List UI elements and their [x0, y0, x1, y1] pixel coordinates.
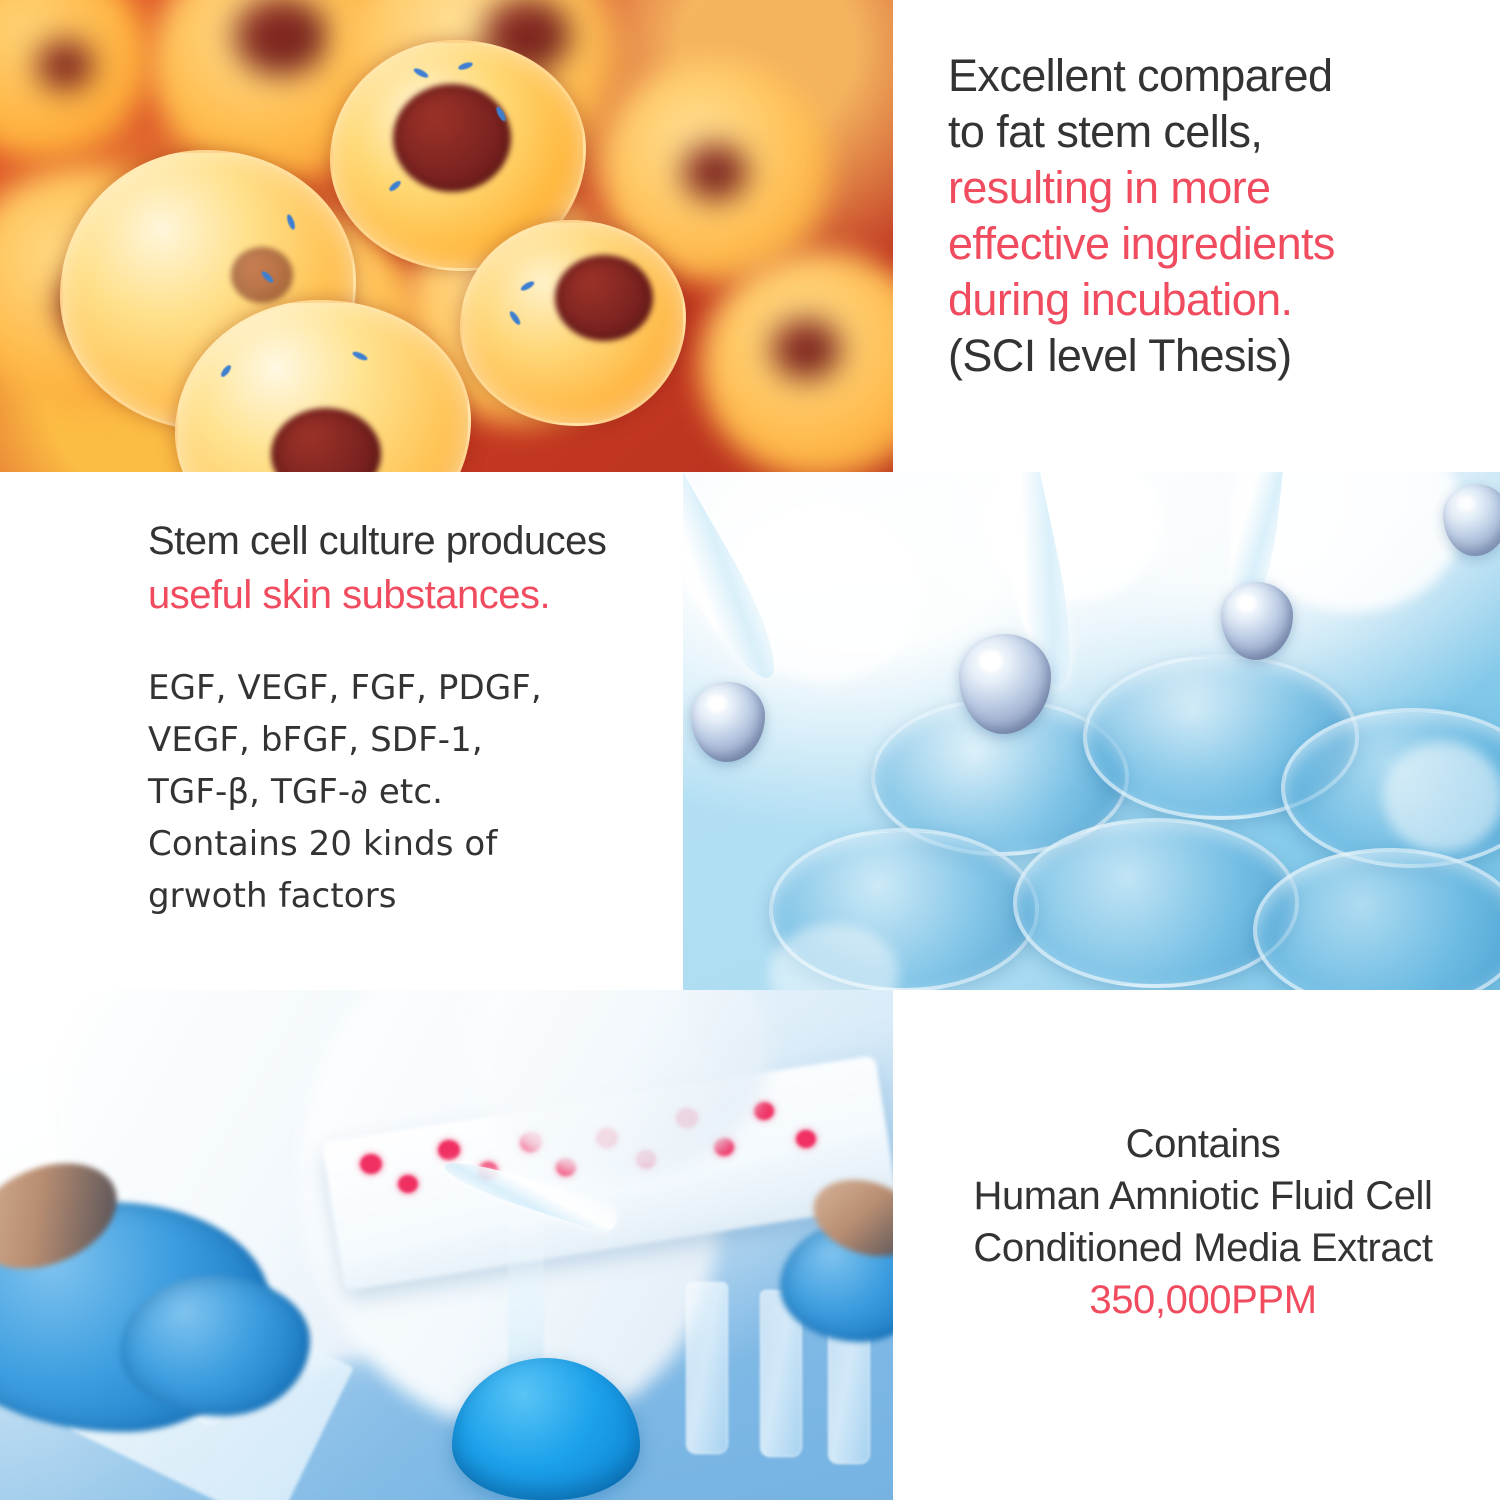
- headline-line-accent: resulting in more: [948, 160, 1468, 216]
- infographic-page: Excellent compared to fat stem cells, re…: [0, 0, 1500, 1500]
- headline-line: Human Amniotic Fluid Cell: [938, 1170, 1468, 1222]
- headline-line: Contains: [938, 1118, 1468, 1170]
- headline-line: Stem cell culture produces: [148, 514, 668, 568]
- headline-line-accent: during incubation.: [948, 272, 1468, 328]
- pipette-well-plate-image: [683, 472, 1500, 990]
- growth-factor-line: EGF, VEGF, FGF, PDGF,: [148, 662, 668, 714]
- growth-factor-line: VEGF, bFGF, SDF-1,: [148, 714, 668, 766]
- headline-line: to fat stem cells,: [948, 104, 1468, 160]
- headline-line: Excellent compared: [948, 48, 1468, 104]
- headline-line-citation: (SCI level Thesis): [948, 328, 1468, 384]
- headline-line-accent: effective ingredients: [948, 216, 1468, 272]
- growth-factor-list: EGF, VEGF, FGF, PDGF, VEGF, bFGF, SDF-1,…: [148, 662, 668, 922]
- laboratory-researcher-image: [0, 990, 893, 1500]
- growth-factor-line: TGF-β, TGF-∂ etc.: [148, 766, 668, 818]
- concentration-value: 350,000PPM: [938, 1274, 1468, 1326]
- headline-block-top: Excellent compared to fat stem cells, re…: [948, 48, 1468, 384]
- headline-line: Conditioned Media Extract: [938, 1222, 1468, 1274]
- stem-cell-microscopy-image: [0, 0, 893, 472]
- growth-factor-line: Contains 20 kinds of: [148, 818, 668, 870]
- headline-block-middle: Stem cell culture produces useful skin s…: [148, 514, 668, 922]
- headline-block-bottom: Contains Human Amniotic Fluid Cell Condi…: [938, 1118, 1468, 1326]
- headline-line-accent: useful skin substances.: [148, 568, 668, 622]
- growth-factor-line: grwoth factors: [148, 870, 668, 922]
